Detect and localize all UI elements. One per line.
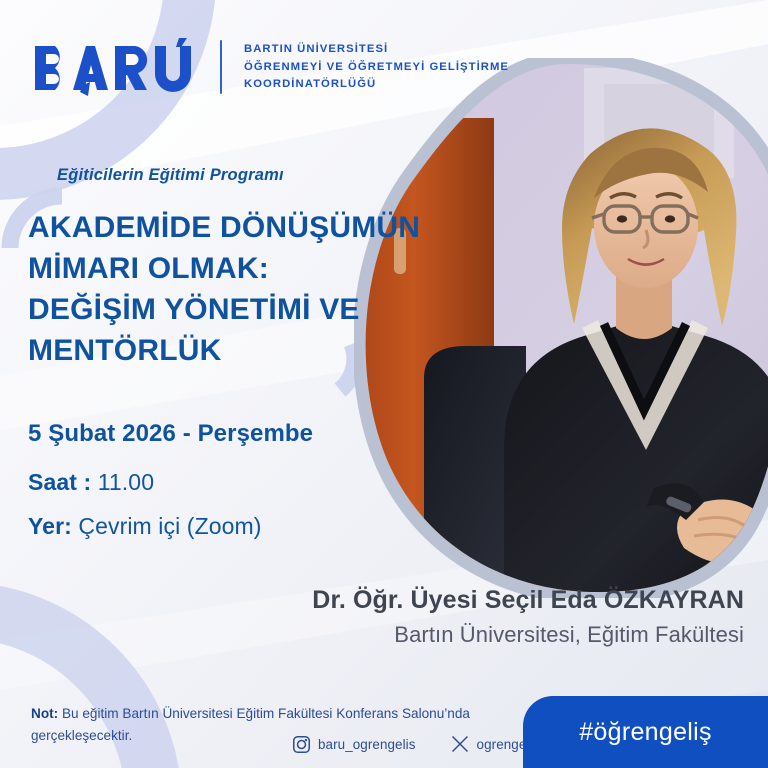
title-line-2: MİMARI OLMAK: [28,248,448,289]
event-date: 5 Şubat 2026 - Perşembe [28,420,313,448]
instagram-handle: baru_ogrengelis [318,737,416,752]
brand-header: BARTIN ÜNİVERSİTESİ ÖĞRENMEYİ VE ÖĞRETME… [33,38,509,96]
social-links: baru_ogrengelis ogrengelis [292,734,539,754]
org-line-2: ÖĞRENMEYİ VE ÖĞRETMEYİ GELİŞTİRME [244,60,509,74]
speaker-block: Dr. Öğr. Üyesi Seçil Eda ÖZKAYRAN Bartın… [224,586,744,648]
title-line-1: AKADEMİDE DÖNÜŞÜMÜN [28,207,448,248]
social-instagram[interactable]: baru_ogrengelis [292,735,416,754]
org-line-3: KOORDİNATÖRLÜĞÜ [244,77,509,91]
event-title: AKADEMİDE DÖNÜŞÜMÜN MİMARI OLMAK: DEĞİŞİ… [28,207,448,371]
title-line-4: MENTÖRLÜK [28,330,448,371]
speaker-affiliation: Bartın Üniversitesi, Eğitim Fakültesi [224,622,744,648]
baru-logo [33,38,198,96]
event-time-value: 11.00 [98,469,154,495]
instagram-icon [292,735,311,754]
logo-divider [220,40,222,94]
event-place-value: Çevrim içi (Zoom) [78,513,261,539]
hashtag-badge[interactable]: #öğrengeliş [523,696,768,768]
event-time-label: Saat : [28,469,91,495]
x-icon [450,734,470,754]
event-place-label: Yer: [28,513,72,539]
program-kicker: Eğiticilerin Eğitimi Programı [57,166,284,185]
title-line-3: DEĞİŞİM YÖNETİMİ VE [28,289,448,330]
event-time-row: Saat : 11.00 [28,469,313,496]
footer-note-label: Not: [31,706,58,721]
event-place-row: Yer: Çevrim içi (Zoom) [28,513,313,540]
org-line-1: BARTIN ÜNİVERSİTESİ [244,42,509,56]
organization-name: BARTIN ÜNİVERSİTESİ ÖĞRENMEYİ VE ÖĞRETME… [244,42,509,91]
event-details: 5 Şubat 2026 - Perşembe Saat : 11.00 Yer… [28,420,313,557]
hashtag-text: #öğrengeliş [579,718,712,747]
baru-logo-mark [33,38,198,100]
speaker-name: Dr. Öğr. Üyesi Seçil Eda ÖZKAYRAN [224,586,744,615]
poster-canvas: BARTIN ÜNİVERSİTESİ ÖĞRENMEYİ VE ÖĞRETME… [0,0,768,768]
